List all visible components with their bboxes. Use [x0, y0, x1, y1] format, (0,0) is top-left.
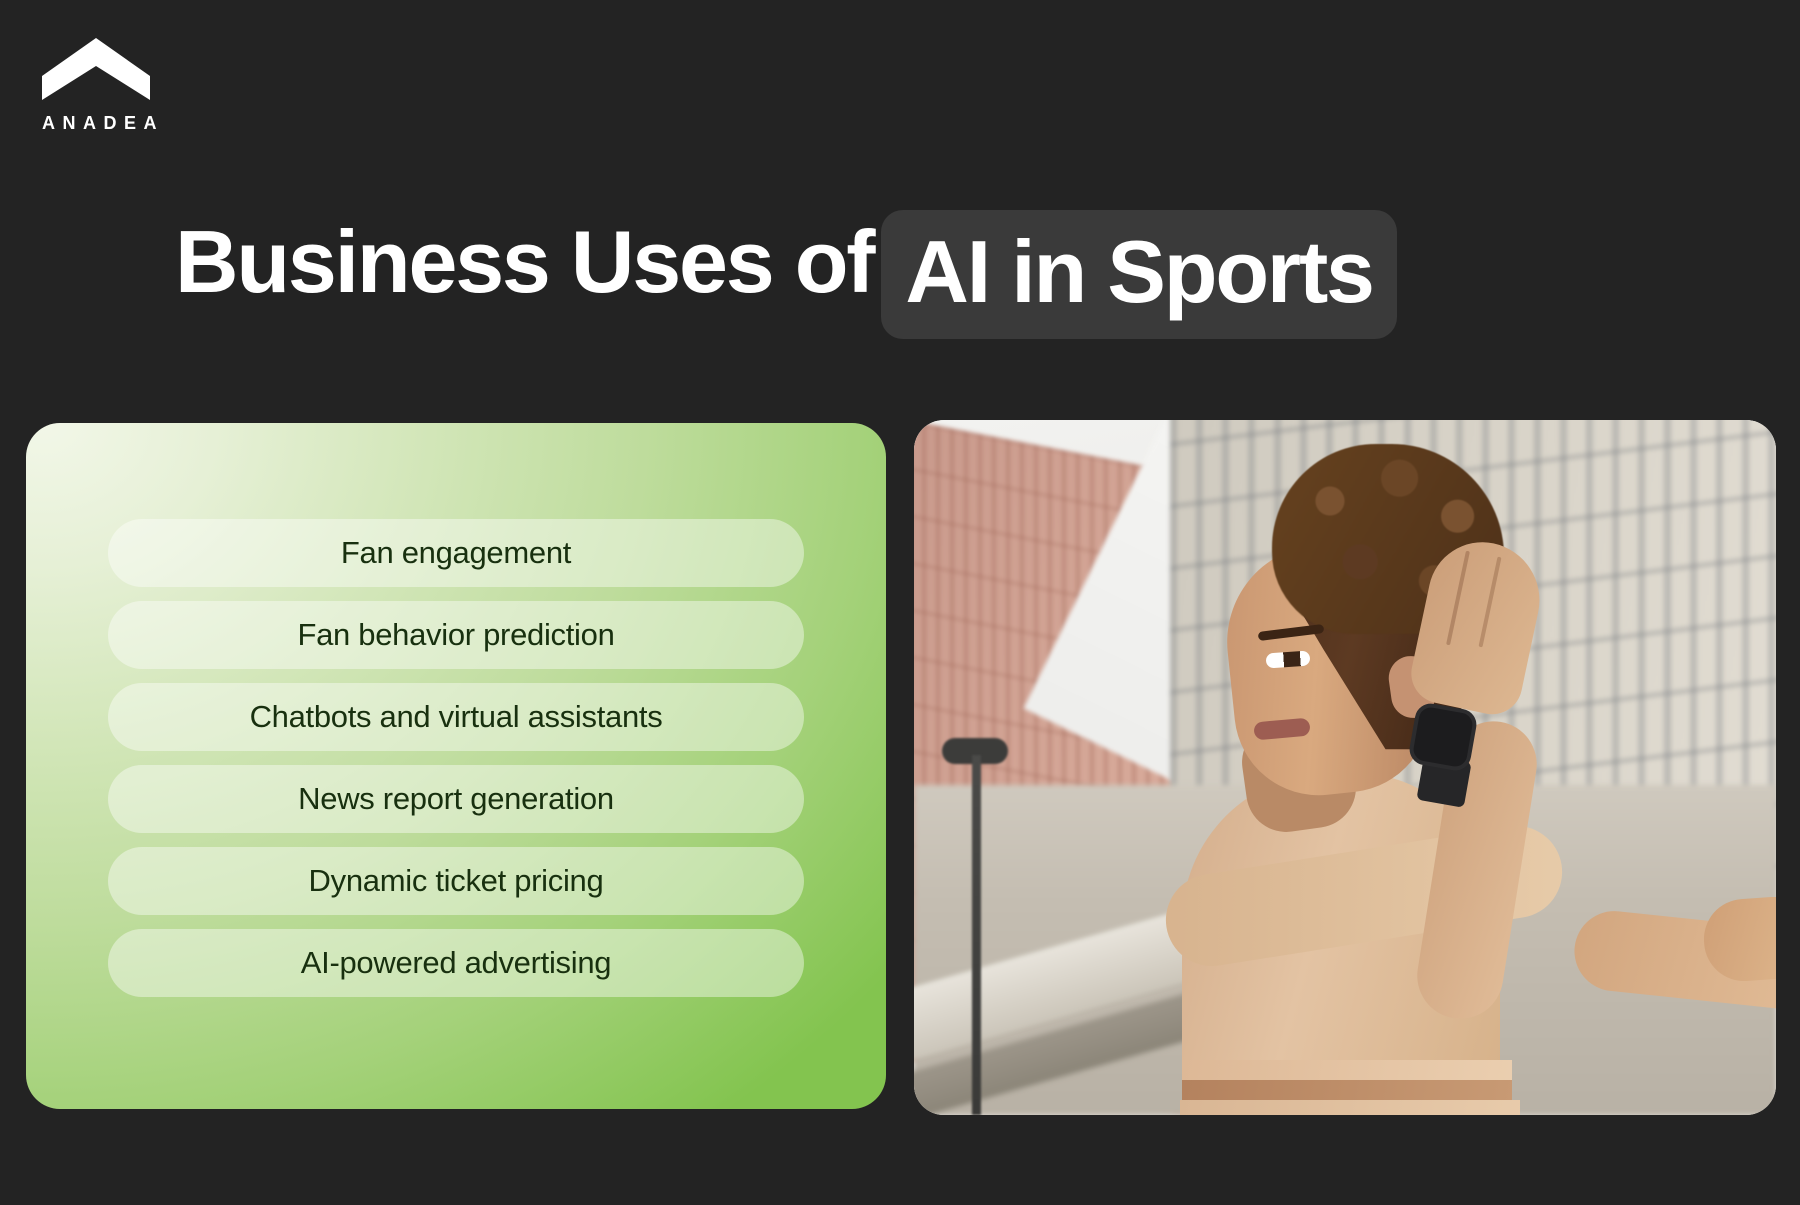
- list-item-label: Chatbots and virtual assistants: [250, 699, 663, 735]
- page-title: Business Uses ofAI in Sports: [175, 200, 1675, 329]
- athlete-leggings: [1180, 1100, 1520, 1115]
- title-plain-text: Business Uses of: [175, 212, 873, 311]
- lamp-post: [972, 755, 981, 1115]
- list-item-label: Fan engagement: [341, 535, 571, 571]
- smartwatch-icon: [1407, 701, 1479, 773]
- list-item-label: Fan behavior prediction: [297, 617, 614, 653]
- brand-logo: ANADEA: [42, 38, 192, 132]
- photo-card: [914, 420, 1776, 1115]
- chevron-mark-icon: [42, 38, 150, 100]
- uses-list-card: Fan engagement Fan behavior prediction C…: [26, 423, 886, 1109]
- slide-root: ANADEA Business Uses ofAI in Sports Fan …: [0, 0, 1800, 1205]
- athlete-photo: [914, 420, 1776, 1115]
- list-item-label: AI-powered advertising: [301, 945, 611, 981]
- uses-list: Fan engagement Fan behavior prediction C…: [108, 519, 804, 997]
- list-item-label: News report generation: [298, 781, 614, 817]
- list-item: News report generation: [108, 765, 804, 833]
- brand-name: ANADEA: [42, 114, 192, 132]
- athlete-eye: [1266, 650, 1311, 668]
- list-item: Fan engagement: [108, 519, 804, 587]
- list-item: Dynamic ticket pricing: [108, 847, 804, 915]
- list-item: AI-powered advertising: [108, 929, 804, 997]
- list-item: Fan behavior prediction: [108, 601, 804, 669]
- list-item-label: Dynamic ticket pricing: [309, 863, 604, 899]
- title-highlight-text: AI in Sports: [881, 210, 1396, 339]
- list-item: Chatbots and virtual assistants: [108, 683, 804, 751]
